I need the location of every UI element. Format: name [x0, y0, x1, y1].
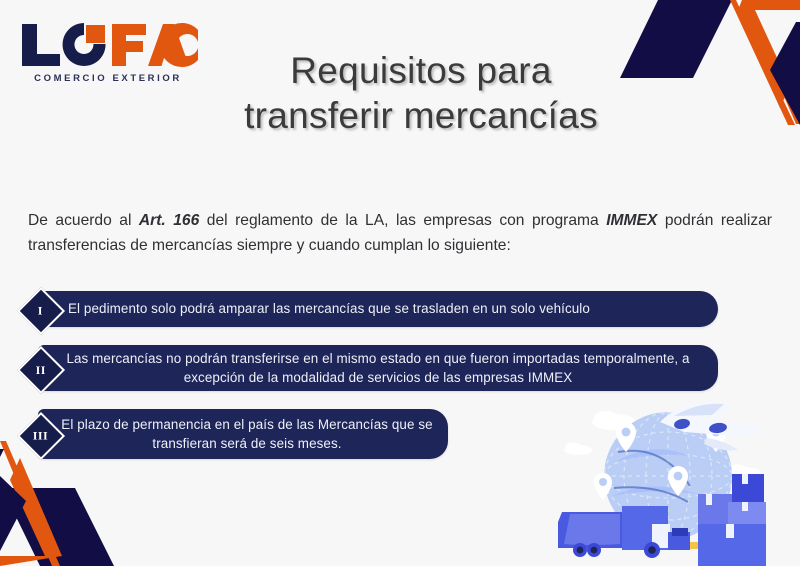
requirement-text-3: El plazo de permanencia en el país de la… [60, 415, 434, 453]
requirement-bar-1: El pedimento solo podrá amparar las merc… [38, 291, 718, 327]
intro-part-1: De acuerdo al [28, 212, 139, 229]
title-line-2: transferir mercancías [186, 93, 656, 138]
global-logistics-illustration [556, 392, 800, 566]
requirement-numeral-1: I [38, 303, 43, 318]
requirement-text-2: Las mercancías no podrán transferirse en… [64, 349, 692, 387]
intro-paragraph: De acuerdo al Art. 166 del reglamento de… [28, 208, 772, 259]
page-title: Requisitos para transferir mercancías [186, 48, 656, 138]
brand-logo: COMERCIO EXTERIOR [22, 22, 212, 84]
requirement-text-1: El pedimento solo podrá amparar las merc… [68, 299, 590, 318]
infographic-poster: COMERCIO EXTERIOR Requisitos para transf… [0, 0, 800, 566]
logo-mark-icon [22, 22, 198, 68]
intro-emphasis-immex: IMMEX [606, 212, 657, 229]
requirement-bar-2: Las mercancías no podrán transferirse en… [38, 345, 718, 391]
requirement-numeral-3: III [33, 428, 49, 443]
decoration-bottom-left [0, 441, 160, 566]
intro-part-2: del reglamento de la LA, las empresas co… [199, 212, 606, 229]
logo-tagline: COMERCIO EXTERIOR [22, 73, 194, 84]
intro-emphasis-article: Art. 166 [139, 212, 199, 229]
requirement-numeral-2: II [36, 363, 46, 378]
title-line-1: Requisitos para [186, 48, 656, 93]
requirement-bar-3: El plazo de permanencia en el país de la… [38, 409, 448, 459]
